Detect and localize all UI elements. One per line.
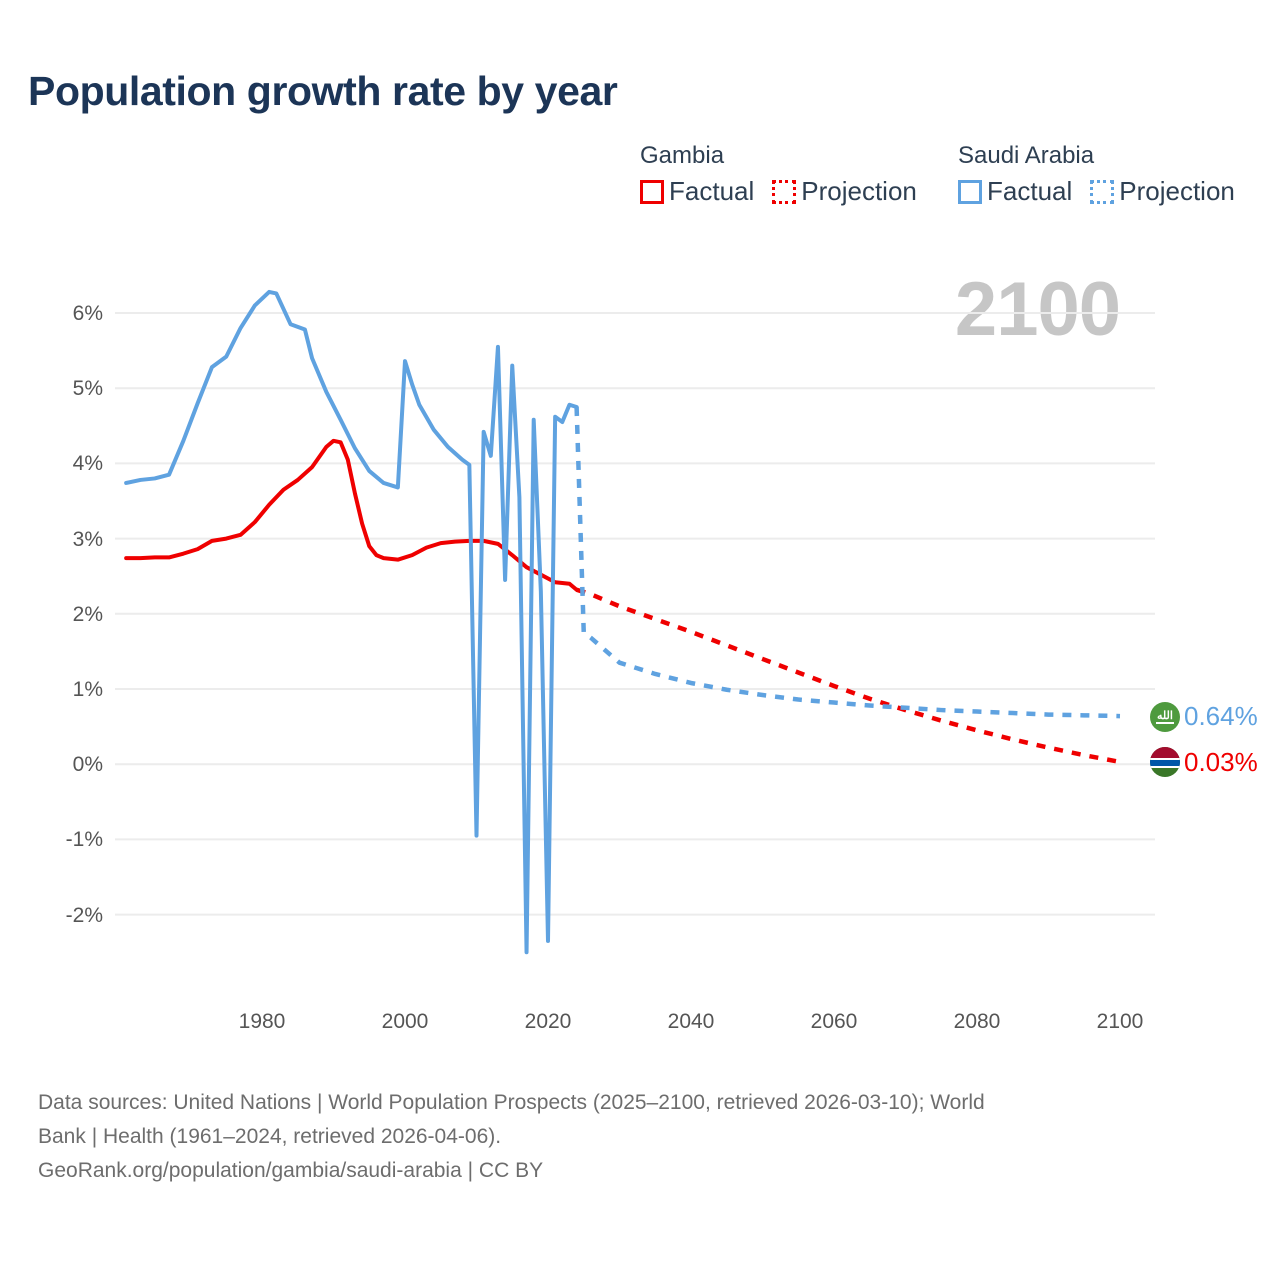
series-line-saudi-arabia-factual bbox=[126, 292, 576, 952]
gambia-flag-icon bbox=[1150, 747, 1180, 777]
y-axis-tick-label: 0% bbox=[31, 753, 103, 777]
series-line-saudi-arabia-projection bbox=[577, 407, 1120, 716]
footer-line[interactable]: GeoRank.org/population/gambia/saudi-arab… bbox=[38, 1154, 1238, 1188]
y-axis-tick-label: 1% bbox=[31, 678, 103, 702]
footer-line: Bank | Health (1961–2024, retrieved 2026… bbox=[38, 1120, 1238, 1154]
x-axis-tick-label: 1980 bbox=[239, 1010, 286, 1034]
y-axis-tick-label: 3% bbox=[31, 528, 103, 552]
y-axis-tick-label: 4% bbox=[31, 452, 103, 476]
y-axis-tick-label: 2% bbox=[31, 603, 103, 627]
x-axis-tick-label: 2000 bbox=[382, 1010, 429, 1034]
y-axis-tick-label: 5% bbox=[31, 377, 103, 401]
footer: Data sources: United Nations | World Pop… bbox=[38, 1086, 1238, 1188]
y-axis-tick-label: -2% bbox=[31, 904, 103, 928]
plot-svg bbox=[0, 0, 1280, 1030]
endpoint-value: 0.64% bbox=[1184, 701, 1258, 732]
x-axis-tick-label: 2100 bbox=[1097, 1010, 1144, 1034]
x-axis-tick-label: 2020 bbox=[525, 1010, 572, 1034]
x-axis-tick-label: 2060 bbox=[811, 1010, 858, 1034]
plot-area: Growth rate 6%5%4%3%2%1%0%-1%-2% 1980200… bbox=[0, 0, 1280, 1030]
x-axis-tick-label: 2040 bbox=[668, 1010, 715, 1034]
footer-line: Data sources: United Nations | World Pop… bbox=[38, 1086, 1238, 1120]
y-axis-tick-label: 6% bbox=[31, 302, 103, 326]
saudi-arabia-flag-icon: الله bbox=[1150, 702, 1180, 732]
x-axis-tick-label: 2080 bbox=[954, 1010, 1001, 1034]
y-axis-tick-label: -1% bbox=[31, 828, 103, 852]
chart-root: Population growth rate by year Gambia Fa… bbox=[0, 0, 1280, 1280]
endpoint-gambia[interactable]: 0.03% bbox=[1150, 747, 1258, 778]
endpoint-saudi-arabia[interactable]: الله0.64% bbox=[1150, 701, 1258, 732]
endpoint-value: 0.03% bbox=[1184, 747, 1258, 778]
y-axis-title: Growth rate bbox=[0, 501, 4, 600]
